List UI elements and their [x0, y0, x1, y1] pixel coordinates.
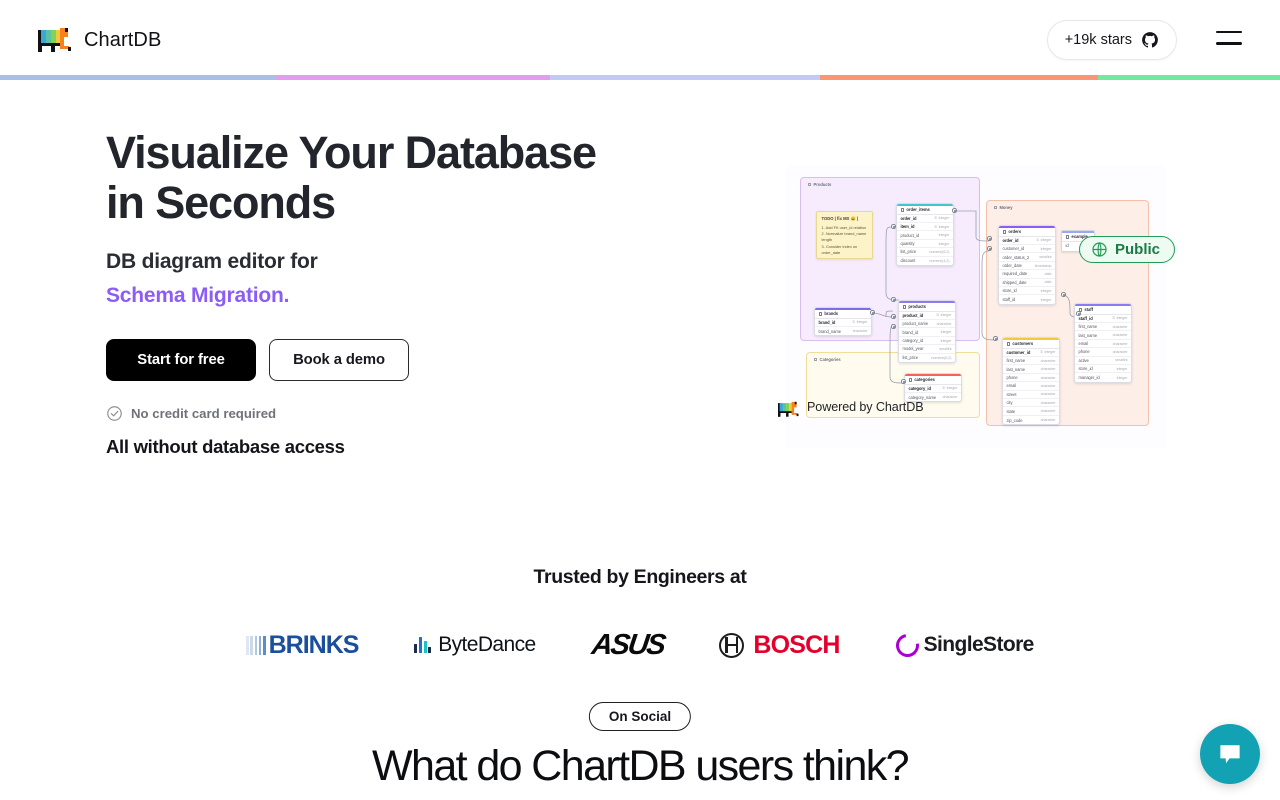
field-name: manager_id: [1079, 375, 1100, 380]
page-title: Visualize Your Database in Seconds: [106, 128, 666, 228]
field-name: product_name: [903, 321, 929, 326]
logo-brinks: BRINKS: [246, 626, 358, 664]
field-type: integer: [941, 330, 952, 334]
social-heading: What do ChartDB users think?: [0, 742, 1280, 791]
table-row[interactable]: customer_idinteger: [1003, 349, 1059, 357]
field-type: integer: [1036, 238, 1051, 242]
field-name: phone: [1007, 375, 1018, 380]
field-type: character: [1113, 350, 1128, 354]
table-header: order_items: [897, 206, 953, 215]
field-type: character: [1041, 409, 1056, 413]
field-type: character: [1041, 392, 1056, 396]
chartdb-elephant-logo-icon: [38, 28, 75, 52]
edge-port[interactable]: [1076, 311, 1081, 316]
bytedance-bars-icon: [414, 637, 431, 653]
field-type: integer: [1117, 376, 1128, 380]
edge-port[interactable]: [987, 246, 992, 251]
field-type: character: [853, 329, 868, 333]
diagram-table-order_items[interactable]: order_itemsorder_idintegeritem_idinteger…: [896, 203, 954, 266]
edge-port[interactable]: [870, 310, 875, 315]
field-name: first_name: [1007, 358, 1026, 363]
table-name: brands: [824, 311, 838, 316]
field-name: product_id: [903, 313, 924, 318]
gradient-segment-4: [1098, 75, 1280, 80]
no-credit-card-note: No credit card required: [106, 405, 666, 422]
field-name: street: [1007, 392, 1017, 397]
field-type: smallint: [1039, 255, 1051, 259]
on-social-pill[interactable]: On Social: [589, 702, 691, 731]
table-row[interactable]: brand_idinteger: [815, 319, 871, 327]
table-row[interactable]: order_idinteger: [897, 215, 953, 223]
field-type: character: [1041, 401, 1056, 405]
field-name: discount: [901, 258, 916, 263]
hamburger-menu-icon[interactable]: [1216, 31, 1242, 48]
table-row[interactable]: order_status_2smallint: [999, 253, 1055, 261]
field-name: list_price: [901, 249, 917, 254]
hero-title-line2: in Seconds: [106, 177, 335, 228]
hero-title-line1: Visualize Your Database: [106, 127, 596, 178]
github-icon: [1141, 31, 1159, 49]
chartdb-logo[interactable]: ChartDB: [38, 28, 161, 52]
table-row[interactable]: citycharacter: [1003, 399, 1059, 407]
field-type: character: [1041, 384, 1056, 388]
table-row[interactable]: category_idinteger: [899, 337, 955, 345]
field-type: character: [1041, 376, 1056, 380]
field-type: integer: [852, 320, 867, 324]
table-row[interactable]: brand_idinteger: [899, 328, 955, 336]
table-row[interactable]: list_pricenumeric(6,2): [899, 354, 955, 362]
field-name: order_id: [901, 216, 917, 221]
diagram-table-products[interactable]: productsproduct_idintegerproduct_namecha…: [898, 300, 956, 363]
public-status-badge[interactable]: Public: [1079, 236, 1175, 263]
table-row[interactable]: discountnumeric(4,2): [897, 257, 953, 265]
field-type: numeric(4,2): [929, 259, 949, 263]
table-row[interactable]: order_datetimestamp: [999, 262, 1055, 270]
note-item: 3. Consider index on order_date: [822, 244, 868, 256]
powered-by-watermark: Powered by ChartDB: [778, 399, 924, 414]
table-row[interactable]: shipped_datedate: [999, 279, 1055, 287]
table-row[interactable]: last_namecharacter: [1003, 365, 1059, 373]
table-header: categories: [905, 376, 961, 385]
field-type: character: [1041, 418, 1056, 422]
field-name: brand_name: [819, 329, 842, 334]
field-name: item_id: [901, 224, 915, 229]
field-name: last_name: [1007, 367, 1025, 372]
logo-asus: ASUS: [592, 626, 664, 664]
chat-widget-button[interactable]: [1200, 724, 1260, 784]
field-type: integer: [1041, 289, 1052, 293]
table-row[interactable]: model_yearsmallint: [899, 345, 955, 353]
field-name: email: [1079, 341, 1089, 346]
table-row[interactable]: first_namecharacter: [1075, 323, 1131, 331]
diagram-table-customers[interactable]: customerscustomer_idintegerfirst_namecha…: [1002, 337, 1060, 425]
table-row[interactable]: staff_idinteger: [1075, 315, 1131, 323]
site-header: ChartDB +19k stars: [0, 0, 1280, 78]
field-type: smallint: [1115, 358, 1127, 362]
table-row[interactable]: phonecharacter: [1075, 348, 1131, 356]
table-row[interactable]: customer_idinteger: [999, 245, 1055, 253]
field-type: character: [1113, 325, 1128, 329]
field-name: customer_id: [1003, 246, 1025, 251]
edge-port[interactable]: [891, 324, 896, 329]
field-type: character: [937, 322, 952, 326]
field-type: character: [1113, 333, 1128, 337]
asus-wordmark: ASUS: [589, 629, 665, 662]
field-name: model_year: [903, 346, 924, 351]
field-name: last_name: [1079, 333, 1097, 338]
edge-port[interactable]: [891, 314, 896, 319]
edge-port[interactable]: [891, 297, 896, 302]
table-row[interactable]: product_namecharacter: [899, 320, 955, 328]
field-name: staff_id: [1003, 297, 1016, 302]
field-type: integer: [934, 216, 949, 220]
table-name: orders: [1008, 229, 1021, 234]
note-title: TODO | fix MS 😄 |: [822, 216, 868, 222]
bytedance-wordmark: ByteDance: [438, 633, 535, 657]
logo-singlestore: SingleStore: [896, 626, 1034, 664]
customer-logo-strip: BRINKS ByteDance ASUS BOSCH SingleStore: [0, 625, 1280, 665]
gradient-segment-1: [275, 75, 550, 80]
table-name: categories: [914, 377, 934, 382]
field-name: order_date: [1003, 263, 1022, 268]
singlestore-wordmark: SingleStore: [924, 633, 1034, 657]
field-name: zip_code: [1007, 418, 1023, 423]
table-icon: [1003, 230, 1006, 234]
edge-port[interactable]: [993, 336, 998, 341]
field-type: integer: [939, 233, 950, 237]
field-name: state: [1007, 409, 1016, 414]
field-name: order_id: [1003, 238, 1019, 243]
table-name: order_items: [906, 207, 929, 212]
edge-port[interactable]: [952, 208, 957, 213]
hero-cta-row: Start for free Book a demo: [106, 339, 666, 381]
edge-port[interactable]: [891, 224, 896, 229]
field-name: phone: [1079, 349, 1090, 354]
brinks-bars-icon: [246, 636, 265, 655]
table-row[interactable]: quantityinteger: [897, 240, 953, 248]
field-name: list_price: [903, 355, 919, 360]
table-row[interactable]: product_idinteger: [899, 312, 955, 320]
diagram-preview: Products Money Categories: [776, 156, 1176, 451]
table-row[interactable]: phonecharacter: [1003, 374, 1059, 382]
gradient-segment-2: [550, 75, 820, 80]
table-row[interactable]: emailcharacter: [1075, 340, 1131, 348]
hero-copy: Visualize Your Database in Seconds DB di…: [106, 128, 666, 458]
field-name: category_id: [909, 386, 931, 391]
table-row[interactable]: manager_idinteger: [1075, 373, 1131, 381]
table-row[interactable]: staff_idinteger: [999, 295, 1055, 303]
gradient-divider: [0, 75, 1280, 80]
field-type: numeric(6,2): [931, 356, 951, 360]
logo-bytedance: ByteDance: [414, 626, 535, 664]
field-type: integer: [939, 242, 950, 246]
field-name: shipped_date: [1003, 280, 1027, 285]
table-icon: [1007, 342, 1010, 346]
field-type: integer: [936, 313, 951, 317]
hero-subtitle: DB diagram editor for: [106, 250, 666, 274]
field-type: integer: [942, 386, 957, 390]
field-name: quantity: [901, 241, 915, 246]
table-row[interactable]: required_datedate: [999, 270, 1055, 278]
table-row[interactable]: store_idinteger: [1075, 365, 1131, 373]
field-name: staff_id: [1079, 316, 1093, 321]
trusted-by-title: Trusted by Engineers at: [0, 566, 1280, 589]
field-type: timestamp: [1035, 264, 1052, 268]
table-name: products: [908, 304, 926, 309]
table-row[interactable]: order_idinteger: [999, 237, 1055, 245]
field-name: city: [1007, 400, 1013, 405]
table-header: brands: [815, 310, 871, 319]
table-row[interactable]: category_idinteger: [905, 385, 961, 393]
public-badge-label: Public: [1115, 241, 1160, 258]
field-type: integer: [1041, 298, 1052, 302]
logo-wordmark: ChartDB: [84, 29, 161, 52]
chartdb-elephant-logo-icon: [778, 402, 792, 411]
field-type: date: [1045, 272, 1052, 276]
table-icon: [909, 378, 912, 382]
diagram-table-brands[interactable]: brandsbrand_idintegerbrand_namecharacter: [814, 307, 872, 336]
field-name: order_status_2: [1003, 255, 1030, 260]
field-name: customer_id: [1007, 350, 1031, 355]
table-row[interactable]: first_namecharacter: [1003, 357, 1059, 365]
edge-port[interactable]: [901, 379, 906, 384]
table-header: orders: [999, 228, 1055, 237]
diagram-table-orders[interactable]: ordersorder_idintegercustomer_idintegero…: [998, 225, 1056, 305]
globe-icon: [1091, 241, 1108, 258]
check-circle-icon: [106, 405, 123, 422]
field-type: integer: [1041, 247, 1052, 251]
field-type: numeric(6,2): [929, 250, 949, 254]
field-name: store_id: [1079, 366, 1093, 371]
field-type: date: [1045, 280, 1052, 284]
field-name: first_name: [1079, 324, 1098, 329]
gradient-segment-3: [820, 75, 1098, 80]
diagram-sticky-note[interactable]: TODO | fix MS 😄 | 1. Add FK user_id rela…: [816, 211, 873, 259]
field-type: character: [1113, 342, 1128, 346]
no-credit-card-label: No credit card required: [131, 406, 276, 421]
table-row[interactable]: item_idinteger: [897, 223, 953, 231]
table-icon: [819, 312, 822, 316]
table-row[interactable]: brand_namecharacter: [815, 327, 871, 335]
field-name: store_id: [1003, 288, 1017, 293]
field-type: character: [1041, 367, 1056, 371]
field-name: brand_id: [903, 330, 919, 335]
table-row[interactable]: activesmallint: [1075, 357, 1131, 365]
field-type: smallint: [939, 347, 951, 351]
field-type: integer: [1112, 316, 1127, 320]
table-icon: [901, 208, 904, 212]
field-name: required_date: [1003, 271, 1028, 276]
book-a-demo-button[interactable]: Book a demo: [269, 339, 409, 381]
table-row[interactable]: statecharacter: [1003, 407, 1059, 415]
table-header: products: [899, 303, 955, 312]
table-header: customers: [1003, 340, 1059, 349]
table-name: customers: [1012, 341, 1033, 346]
hero-highlight: Schema Migration.: [106, 284, 666, 308]
field-type: character: [943, 395, 958, 399]
table-row[interactable]: emailcharacter: [1003, 382, 1059, 390]
table-row[interactable]: store_idinteger: [999, 287, 1055, 295]
start-for-free-button[interactable]: Start for free: [106, 339, 256, 381]
field-type: integer: [1040, 350, 1055, 354]
field-type: integer: [941, 339, 952, 343]
watermark-label: Powered by ChartDB: [807, 400, 924, 414]
edge-port[interactable]: [1061, 292, 1066, 297]
note-item: 2. Normalize brand_name length: [822, 231, 868, 243]
table-row[interactable]: streetcharacter: [1003, 391, 1059, 399]
bosch-emblem-icon: [719, 633, 744, 658]
table-name: staff: [1084, 307, 1093, 312]
table-row[interactable]: zip_codecharacter: [1003, 416, 1059, 424]
field-type: integer: [1117, 367, 1128, 371]
edge-port[interactable]: [987, 236, 992, 241]
table-header: staff: [1075, 306, 1131, 315]
field-name: email: [1007, 383, 1017, 388]
field-name: brand_id: [819, 320, 836, 325]
hero-tagline: All without database access: [106, 436, 666, 458]
chat-bubble-icon: [1216, 740, 1244, 768]
field-name: product_id: [901, 233, 920, 238]
field-type: character: [1041, 359, 1056, 363]
table-row[interactable]: last_namecharacter: [1075, 331, 1131, 339]
diagram-table-staff[interactable]: staffstaff_idintegerfirst_namecharacterl…: [1074, 303, 1132, 383]
field-type: integer: [934, 225, 949, 229]
logo-bosch: BOSCH: [719, 626, 839, 664]
singlestore-ring-icon: [891, 629, 923, 661]
github-stars-label: +19k stars: [1065, 32, 1132, 48]
table-row[interactable]: product_idinteger: [897, 231, 953, 239]
brinks-wordmark: BRINKS: [269, 631, 359, 660]
gradient-segment-0: [0, 75, 275, 80]
table-icon: [903, 305, 906, 309]
table-row[interactable]: list_pricenumeric(6,2): [897, 248, 953, 256]
github-stars-button[interactable]: +19k stars: [1047, 20, 1177, 60]
field-name: category_id: [903, 338, 924, 343]
field-name: active: [1079, 358, 1089, 363]
bosch-wordmark: BOSCH: [753, 631, 839, 660]
